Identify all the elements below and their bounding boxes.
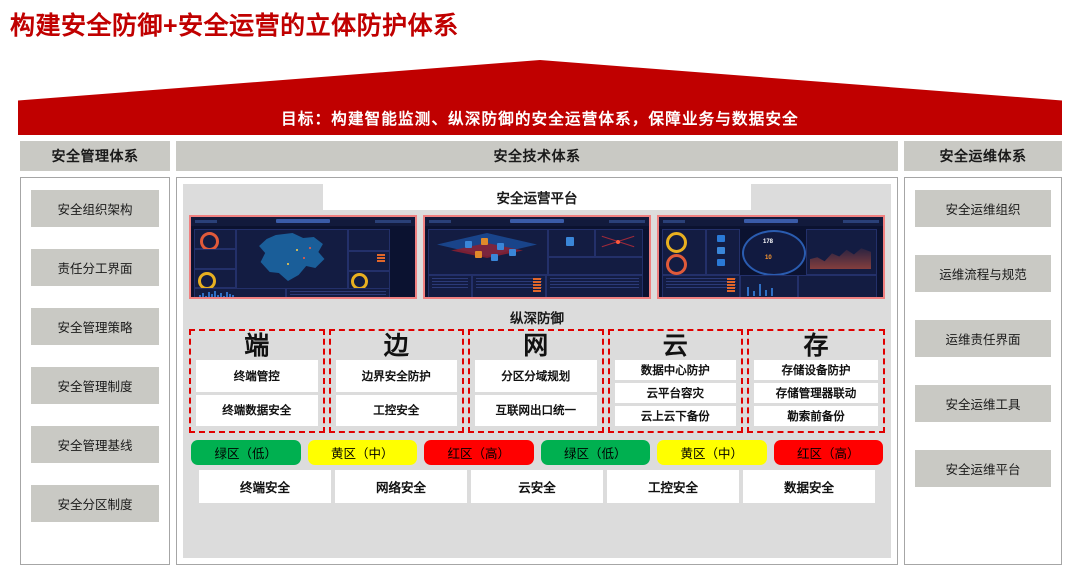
defense-item-network-1[interactable]: 互联网出口统一 bbox=[475, 395, 597, 427]
defense-item-storage-1[interactable]: 存储管理器联动 bbox=[754, 383, 878, 403]
zone-tag-1[interactable]: 黄区（中） bbox=[308, 440, 418, 465]
panel bbox=[194, 249, 236, 269]
dashboard-topbar bbox=[191, 217, 415, 226]
domain-box-3[interactable]: 工控安全 bbox=[607, 470, 739, 503]
panel bbox=[548, 257, 643, 275]
zone-tag-3[interactable]: 绿区（低） bbox=[541, 440, 651, 465]
defense-item-cloud-0[interactable]: 数据中心防护 bbox=[615, 360, 737, 380]
panel bbox=[798, 275, 877, 299]
sidebar-item-left-5[interactable]: 安全分区制度 bbox=[31, 485, 159, 522]
sidebar-item-right-4[interactable]: 安全运维平台 bbox=[915, 450, 1051, 487]
defense-head-cloud: 云 bbox=[615, 334, 737, 359]
page-title: 构建安全防御+安全运营的立体防护体系 bbox=[10, 6, 459, 42]
defense-title: 纵深防御 bbox=[183, 305, 891, 329]
defense-item-edge-0[interactable]: 边界安全防护 bbox=[336, 360, 458, 392]
donut-chart-icon bbox=[666, 254, 687, 275]
defense-head-endpoint: 端 bbox=[196, 334, 318, 359]
defense-items-endpoint: 终端管控 终端数据安全 bbox=[196, 360, 318, 426]
center-technology-panel: 安全运营平台 bbox=[176, 177, 898, 565]
sidebar-item-left-3[interactable]: 安全管理制度 bbox=[31, 367, 159, 404]
defense-head-storage: 存 bbox=[754, 334, 878, 359]
platform-title: 安全运营平台 bbox=[183, 184, 891, 210]
zone-tag-4[interactable]: 黄区（中） bbox=[657, 440, 767, 465]
gauge-value-primary: 178 bbox=[763, 239, 773, 245]
defense-column-storage[interactable]: 存 存储设备防护 存储管理器联动 勒索前备份 bbox=[747, 329, 885, 433]
sidebar-item-right-2[interactable]: 运维责任界面 bbox=[915, 320, 1051, 357]
donut-chart-icon bbox=[666, 232, 687, 253]
zone-tag-0[interactable]: 绿区（低） bbox=[191, 440, 301, 465]
sidebar-item-left-2[interactable]: 安全管理策略 bbox=[31, 308, 159, 345]
header-middle-technology: 安全技术体系 bbox=[176, 141, 898, 171]
defense-item-storage-2[interactable]: 勒索前备份 bbox=[754, 406, 878, 426]
sidebar-item-right-1[interactable]: 运维流程与规范 bbox=[915, 255, 1051, 292]
dashboard-screenshot-asset-operations[interactable]: 178 10 bbox=[657, 215, 885, 299]
table-panel bbox=[546, 275, 643, 299]
defense-item-endpoint-0[interactable]: 终端管控 bbox=[196, 360, 318, 392]
roof-goal-text: 目标：构建智能监测、纵深防御的安全运营体系，保障业务与数据安全 bbox=[18, 107, 1062, 129]
dashboard-screenshot-attack-topology[interactable] bbox=[423, 215, 651, 299]
sidebar-item-left-0[interactable]: 安全组织架构 bbox=[31, 190, 159, 227]
domain-box-4[interactable]: 数据安全 bbox=[743, 470, 875, 503]
sidebar-item-right-3[interactable]: 安全运维工具 bbox=[915, 385, 1051, 422]
zone-tags: 绿区（低） 黄区（中） 红区（高） 绿区（低） 黄区（中） 红区（高） bbox=[183, 433, 891, 468]
panel bbox=[348, 229, 390, 251]
dashboard-topbar bbox=[659, 217, 883, 226]
defense-items-storage: 存储设备防护 存储管理器联动 勒索前备份 bbox=[754, 360, 878, 426]
defense-column-cloud[interactable]: 云 数据中心防护 云平台容灾 云上云下备份 bbox=[608, 329, 744, 433]
sidebar-item-right-0[interactable]: 安全运维组织 bbox=[915, 190, 1051, 227]
defense-items-cloud: 数据中心防护 云平台容灾 云上云下备份 bbox=[615, 360, 737, 426]
defense-item-network-0[interactable]: 分区分域规划 bbox=[475, 360, 597, 392]
domain-box-1[interactable]: 网络安全 bbox=[335, 470, 467, 503]
defense-item-endpoint-1[interactable]: 终端数据安全 bbox=[196, 395, 318, 427]
security-domains: 终端安全 网络安全 云安全 工控安全 数据安全 bbox=[183, 468, 891, 510]
sidebar-item-left-4[interactable]: 安全管理基线 bbox=[31, 426, 159, 463]
left-column-management: 安全组织架构 责任分工界面 安全管理策略 安全管理制度 安全管理基线 安全分区制… bbox=[20, 177, 170, 565]
defense-item-cloud-1[interactable]: 云平台容灾 bbox=[615, 383, 737, 403]
domain-box-2[interactable]: 云安全 bbox=[471, 470, 603, 503]
defense-item-edge-1[interactable]: 工控安全 bbox=[336, 395, 458, 427]
zone-tag-2[interactable]: 红区（高） bbox=[424, 440, 534, 465]
roof-banner: 目标：构建智能监测、纵深防御的安全运营体系，保障业务与数据安全 bbox=[18, 60, 1062, 135]
domain-box-0[interactable]: 终端安全 bbox=[199, 470, 331, 503]
dashboard-screenshot-situational-awareness[interactable] bbox=[189, 215, 417, 299]
defense-head-network: 网 bbox=[475, 334, 597, 359]
center-inner: 安全运营平台 bbox=[183, 184, 891, 558]
table-panel bbox=[286, 288, 390, 299]
defense-columns: 端 终端管控 终端数据安全 边 边界安全防护 工控安全 网 bbox=[183, 329, 891, 433]
platform-screenshots: 178 10 bbox=[183, 210, 891, 305]
sidebar-item-left-1[interactable]: 责任分工界面 bbox=[31, 249, 159, 286]
defense-items-network: 分区分域规划 互联网出口统一 bbox=[475, 360, 597, 426]
header-left-management: 安全管理体系 bbox=[20, 141, 170, 171]
zone-tag-5[interactable]: 红区（高） bbox=[774, 440, 884, 465]
defense-column-endpoint[interactable]: 端 终端管控 终端数据安全 bbox=[189, 329, 325, 433]
defense-head-edge: 边 bbox=[336, 334, 458, 359]
defense-column-network[interactable]: 网 分区分域规划 互联网出口统一 bbox=[468, 329, 604, 433]
gauge-value-secondary: 10 bbox=[765, 255, 772, 261]
defense-column-edge[interactable]: 边 边界安全防护 工控安全 bbox=[329, 329, 465, 433]
defense-item-cloud-2[interactable]: 云上云下备份 bbox=[615, 406, 737, 426]
table-panel bbox=[428, 275, 472, 299]
right-column-operations: 安全运维组织 运维流程与规范 运维责任界面 安全运维工具 安全运维平台 bbox=[904, 177, 1062, 565]
defense-items-edge: 边界安全防护 工控安全 bbox=[336, 360, 458, 426]
gauge-chart-icon bbox=[742, 230, 806, 276]
platform-title-band: 安全运营平台 bbox=[183, 184, 891, 210]
slide-canvas: 构建安全防御+安全运营的立体防护体系 目标：构建智能监测、纵深防御的安全运营体系… bbox=[0, 0, 1080, 572]
defense-item-storage-0[interactable]: 存储设备防护 bbox=[754, 360, 878, 380]
dashboard-topbar bbox=[425, 217, 649, 226]
header-right-operations: 安全运维体系 bbox=[904, 141, 1062, 171]
